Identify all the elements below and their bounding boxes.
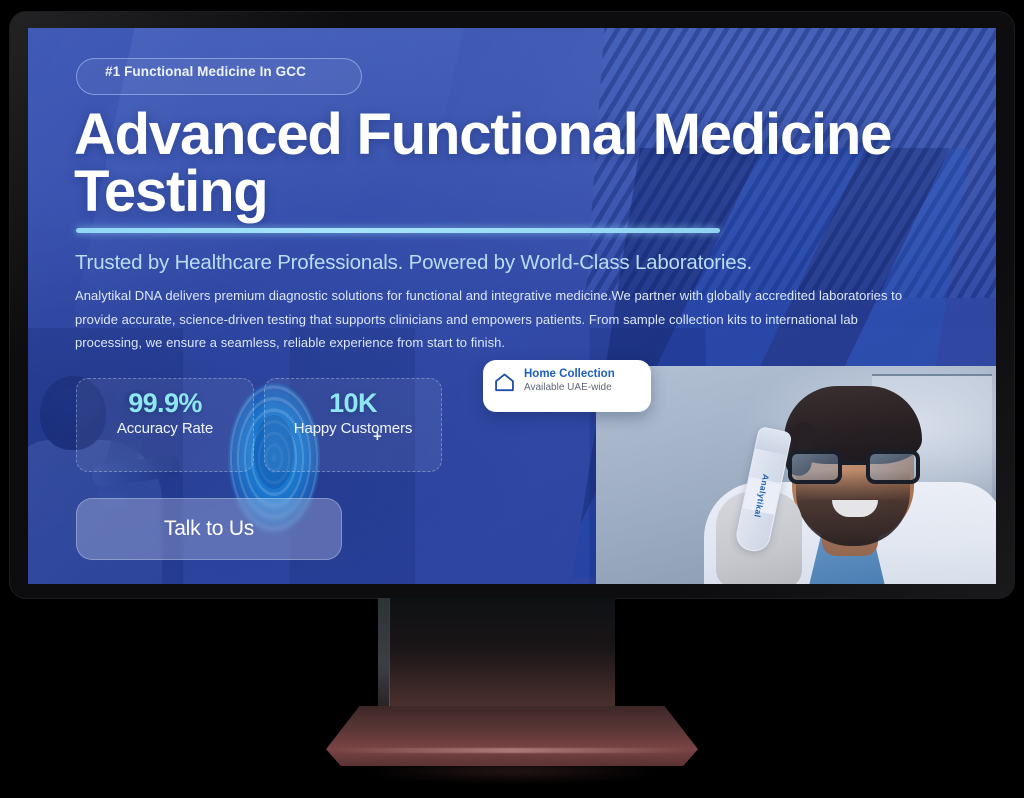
screenshot-stage: Analytikal #1 Functional Medicine In GCC…	[0, 0, 1024, 798]
card-subtitle: Available UAE-wide	[524, 382, 615, 394]
stats-group: 99.9% Accuracy Rate 10K Happy Customers	[76, 378, 442, 472]
monitor-screen: Analytikal #1 Functional Medicine In GCC…	[28, 28, 996, 584]
stat-label: Accuracy Rate	[117, 418, 213, 440]
stat-card-accuracy: 99.9% Accuracy Rate	[76, 378, 254, 472]
stand-base	[326, 706, 698, 766]
home-icon	[493, 371, 516, 394]
stand-shadow	[360, 760, 666, 782]
stand-base-highlight	[334, 748, 690, 753]
card-title: Home Collection	[524, 368, 615, 381]
stat-value: 99.9%	[128, 388, 202, 418]
monitor-device: Analytikal #1 Functional Medicine In GCC…	[10, 12, 1014, 598]
ranking-badge: #1 Functional Medicine In GCC	[76, 58, 362, 95]
plus-marker: +	[373, 428, 382, 445]
page-title: Advanced Functional Medicine Testing	[74, 106, 974, 220]
talk-to-us-button[interactable]: Talk to Us	[76, 498, 342, 560]
hero-content: #1 Functional Medicine In GCC Advanced F…	[28, 28, 996, 584]
accent-divider	[76, 228, 720, 233]
stat-label: Happy Customers	[294, 418, 413, 440]
stand-neck-edge	[378, 598, 389, 710]
stat-card-customers: 10K Happy Customers	[264, 378, 442, 472]
home-collection-text: Home Collection Available UAE-wide	[524, 368, 615, 394]
stat-value: 10K	[329, 388, 377, 418]
home-collection-card[interactable]: Home Collection Available UAE-wide	[483, 360, 651, 412]
hero-subheading: Trusted by Healthcare Professionals. Pow…	[75, 250, 935, 276]
stand-neck	[389, 598, 615, 710]
hero-paragraph: Analytikal DNA delivers premium diagnost…	[75, 284, 915, 355]
